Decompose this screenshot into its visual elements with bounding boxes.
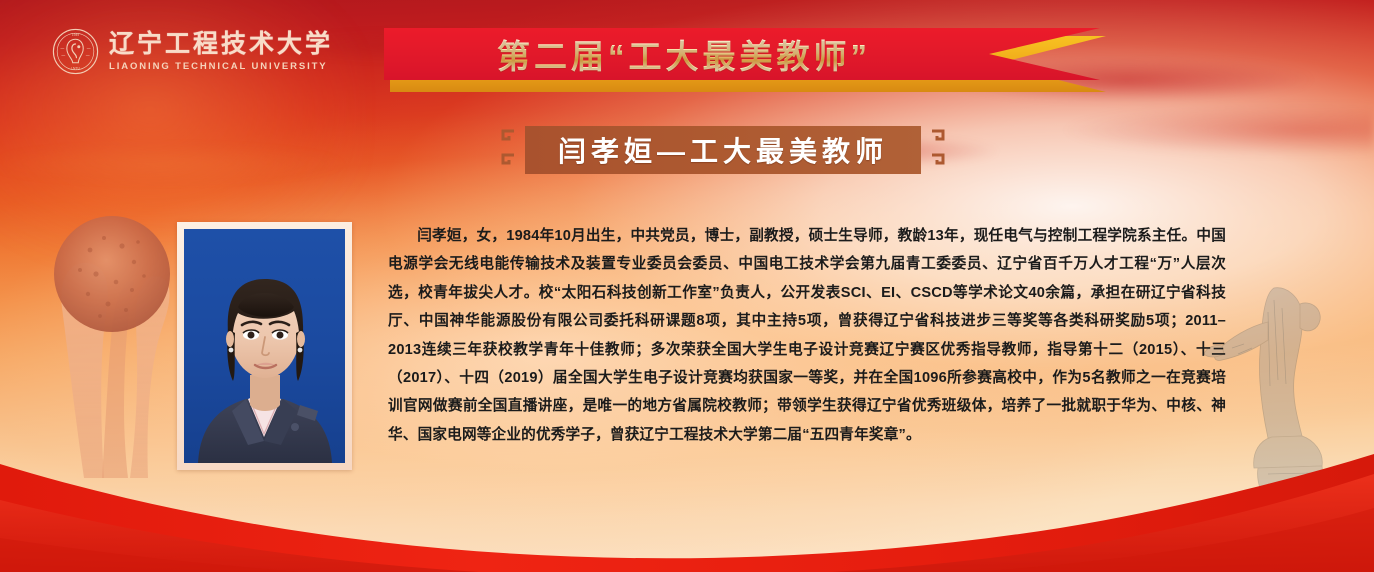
meander-pattern-icon [497,126,517,174]
poster-canvas: 1949 LNTU 辽宁工程技术大学 LIAONING TECHNICAL UN… [0,0,1374,572]
meander-pattern-icon [929,126,949,174]
title-banner: 第二届“工大最美教师” [384,28,1106,86]
portrait-frame [177,222,352,470]
subtitle-plaque: 闫孝姮—工大最美教师 [497,126,949,174]
university-logo: 1949 LNTU 辽宁工程技术大学 LIAONING TECHNICAL UN… [52,28,333,75]
logo-text-block: 辽宁工程技术大学 LIAONING TECHNICAL UNIVERSITY [109,32,333,72]
university-seal-icon: 1949 LNTU [52,28,99,75]
subtitle-text: 闫孝姮—工大最美教师 [558,130,888,170]
banner-title-text: 第二届“工大最美教师” [384,28,984,80]
svg-text:LNTU: LNTU [71,66,81,70]
logo-name-cn: 辽宁工程技术大学 [109,32,333,57]
subtitle-plaque-bar: 闫孝姮—工大最美教师 [525,126,921,174]
biography-text: 闫孝姮，女，1984年10月出生，中共党员，博士，副教授，硕士生导师，教龄13年… [388,222,1226,449]
svg-text:1949: 1949 [72,33,79,37]
teacher-portrait-photo [184,229,345,463]
sculpture-sphere-watermark-icon [34,178,194,478]
logo-name-en: LIAONING TECHNICAL UNIVERSITY [109,62,333,72]
biography-block: 闫孝姮，女，1984年10月出生，中共党员，博士，副教授，硕士生导师，教龄13年… [388,222,1226,449]
